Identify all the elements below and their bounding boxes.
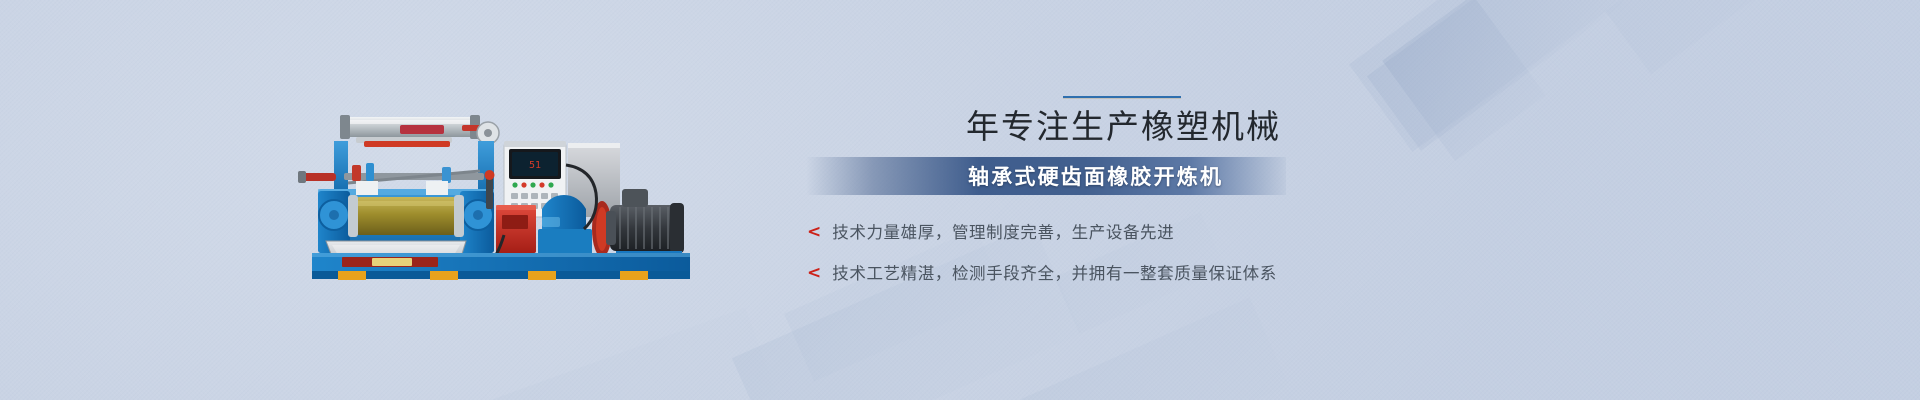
svg-text:51: 51 xyxy=(529,160,541,171)
chevron-left-icon: < xyxy=(807,265,821,282)
promo-banner: 51 xyxy=(0,0,1920,400)
banner-copy: 年专注生产橡塑机械 轴承式硬齿面橡胶开炼机 < 技术力量雄厚，管理制度完善，生产… xyxy=(1000,96,1700,301)
decorative-shape-5 xyxy=(463,307,776,400)
chevron-left-icon: < xyxy=(807,224,821,241)
feature-text: 技术力量雄厚，管理制度完善，生产设备先进 xyxy=(832,219,1174,243)
banner-subtitle: 轴承式硬齿面橡胶开炼机 xyxy=(968,161,1223,191)
decorative-ribbon-4 xyxy=(1605,0,1805,74)
feature-text: 技术工艺精湛，检测手段齐全，并拥有一整套质量保证体系 xyxy=(832,260,1277,284)
rubber-mixing-mill-illustration: 51 xyxy=(290,105,714,283)
subtitle-bar: 轴承式硬齿面橡胶开炼机 xyxy=(806,157,1286,195)
accent-rule xyxy=(1063,96,1181,99)
feature-item: < 技术工艺精湛，检测手段齐全，并拥有一整套质量保证体系 xyxy=(807,260,1700,284)
feature-list: < 技术力量雄厚，管理制度完善，生产设备先进 < 技术工艺精湛，检测手段齐全，并… xyxy=(807,219,1700,284)
banner-headline: 年专注生产橡塑机械 xyxy=(877,108,1281,147)
decorative-shape-2 xyxy=(1021,297,1288,400)
product-image: 51 xyxy=(290,105,714,283)
feature-item: < 技术力量雄厚，管理制度完善，生产设备先进 xyxy=(807,219,1700,243)
